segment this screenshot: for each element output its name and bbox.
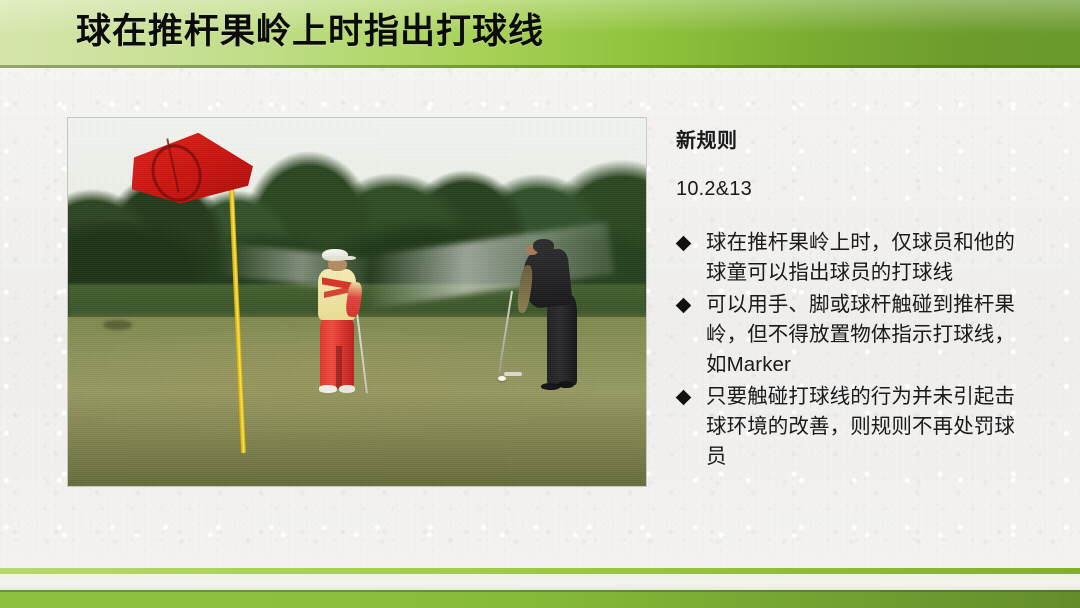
slide-title-bar: 球在推杆果岭上时指出打球线	[0, 0, 1080, 68]
photo-golfer-shoe-right	[558, 381, 574, 388]
footer-green-bar	[0, 590, 1080, 608]
rule-heading: 新规则	[676, 128, 1024, 154]
rule-text-panel: 新规则 10.2&13 球在推杆果岭上时，仅球员和他的球童可以指出球员的打球线 …	[676, 128, 1024, 474]
photo-golfer-trousers	[547, 295, 577, 385]
diamond-bullet-icon	[676, 236, 692, 252]
photo-golfer-head	[533, 239, 553, 252]
photo-caddie-shoe-left	[319, 385, 336, 392]
page-title: 球在推杆果岭上时指出打球线	[76, 8, 544, 56]
photo-caddie-shoe-right	[339, 385, 355, 392]
golf-course-photo	[68, 118, 646, 486]
list-item-text: 只要触碰打球线的行为并未引起击球环境的改善，则规则不再处罚球员	[706, 385, 1015, 468]
photo-golf-ball	[498, 376, 506, 381]
photo-golfer-putter-head	[504, 372, 522, 376]
diamond-bullet-icon	[676, 390, 692, 406]
list-item-text: 球在推杆果岭上时，仅球员和他的球童可以指出球员的打球线	[706, 231, 1015, 284]
rule-number: 10.2&13	[676, 176, 1024, 202]
list-item: 可以用手、脚或球杆触碰到推杆果岭，但不得放置物体指示打球线，如Marker	[676, 290, 1024, 380]
photo-caddie-leg-gap	[336, 346, 342, 389]
presentation-slide: 球在推杆果岭上时指出打球线	[0, 0, 1080, 608]
list-item: 球在推杆果岭上时，仅球员和他的球童可以指出球员的打球线	[676, 228, 1024, 288]
photo-green-shading	[68, 390, 646, 486]
photo-hole-shadow	[103, 320, 132, 330]
footer-light-band	[0, 574, 1080, 590]
list-item-text: 可以用手、脚或球杆触碰到推杆果岭，但不得放置物体指示打球线，如Marker	[706, 293, 1015, 376]
rule-bullet-list: 球在推杆果岭上时，仅球员和他的球童可以指出球员的打球线 可以用手、脚或球杆触碰到…	[676, 228, 1024, 472]
list-item: 只要触碰打球线的行为并未引起击球环境的改善，则规则不再处罚球员	[676, 382, 1024, 472]
diamond-bullet-icon	[676, 298, 692, 314]
